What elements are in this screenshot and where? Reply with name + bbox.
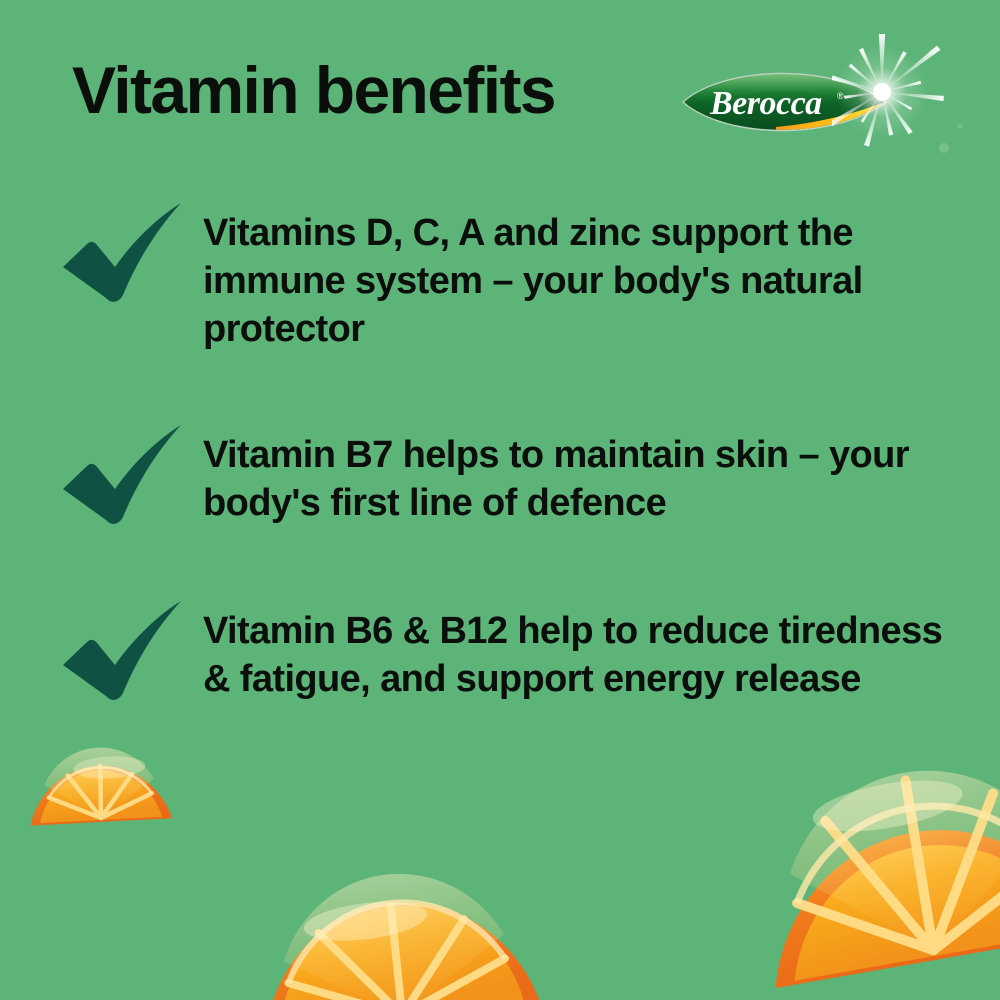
check-mark-icon <box>57 419 185 527</box>
berocca-lens-logo: Berocca ® <box>680 63 890 141</box>
benefit-text: Vitamin B6 & B12 help to reduce tirednes… <box>203 607 943 703</box>
brand-trademark-mark: ® <box>837 91 844 101</box>
check-mark-icon <box>57 197 185 305</box>
orange-slice-center <box>238 831 548 1000</box>
benefit-text: Vitamin B7 helps to maintain skin – your… <box>203 431 943 527</box>
header: Vitamin benefits <box>0 0 1000 200</box>
orange-slice-right <box>719 657 1000 1000</box>
orange-slice-left <box>21 718 177 841</box>
promo-banner: Vitamin benefits <box>0 0 1000 1000</box>
benefit-text: Vitamins D, C, A and zinc support the im… <box>203 209 943 353</box>
brand-wordmark: Berocca <box>709 85 822 122</box>
page-title: Vitamin benefits <box>72 57 555 123</box>
check-mark-icon <box>57 595 185 703</box>
